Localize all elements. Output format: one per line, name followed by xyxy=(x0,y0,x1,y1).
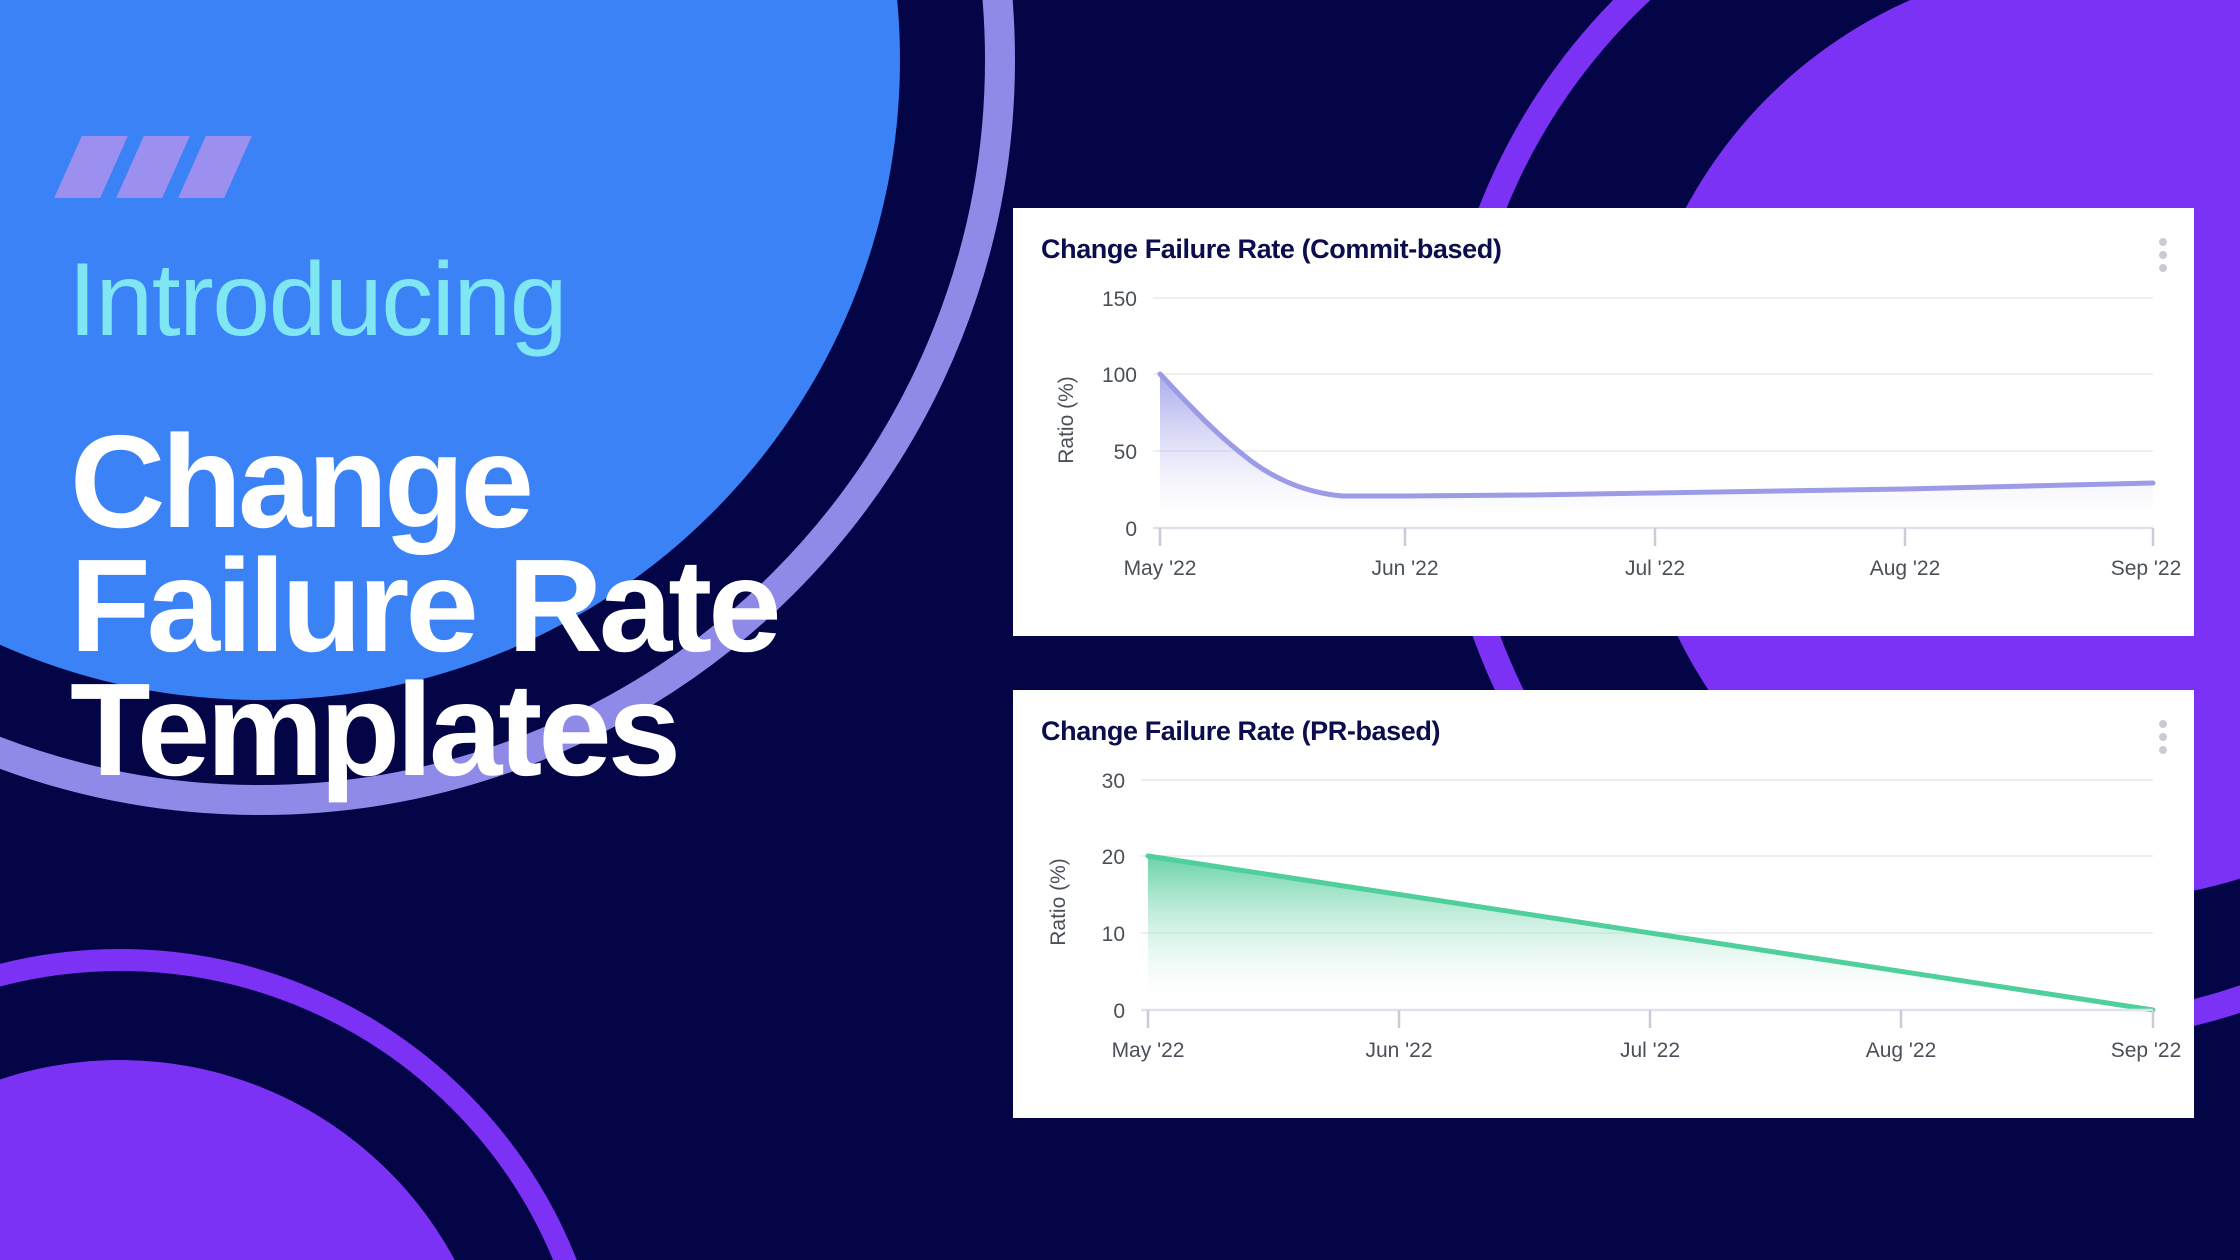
chart-title-commit: Change Failure Rate (Commit-based) xyxy=(1041,234,1501,265)
x-tick-label-3: Aug '22 xyxy=(1870,557,1941,580)
x-tick-label-3: Aug '22 xyxy=(1866,1039,1937,1062)
x-tick-label-0: May '22 xyxy=(1112,1039,1185,1062)
x-tick-label-0: May '22 xyxy=(1124,557,1197,580)
kebab-dot-3 xyxy=(2159,264,2167,272)
kebab-dot-3 xyxy=(2159,746,2167,754)
x-tick-label-2: Jul '22 xyxy=(1620,1039,1680,1062)
kebab-dot-2 xyxy=(2159,251,2167,259)
y-tick-label-0: 0 xyxy=(1113,1000,1125,1023)
y-tick-label-150: 150 xyxy=(1102,288,1137,311)
chart-title-pr: Change Failure Rate (PR-based) xyxy=(1041,716,1440,747)
kebab-dot-1 xyxy=(2159,238,2167,246)
y-axis-label: Ratio (%) xyxy=(1047,858,1070,946)
chart-plot-commit: 150 100 50 0 Ratio (%) May '22 Jun '22 J… xyxy=(1013,280,2194,620)
y-tick-label-50: 50 xyxy=(1114,441,1137,464)
x-tick-label-1: Jun '22 xyxy=(1365,1039,1432,1062)
x-tick-label-2: Jul '22 xyxy=(1625,557,1685,580)
y-tick-label-10: 10 xyxy=(1102,923,1125,946)
kebab-dot-1 xyxy=(2159,720,2167,728)
chart-card-commit: Change Failure Rate (Commit-based) xyxy=(1013,208,2194,636)
kebab-menu-icon[interactable] xyxy=(2154,238,2172,278)
y-axis-label: Ratio (%) xyxy=(1055,376,1078,464)
y-tick-label-100: 100 xyxy=(1102,364,1137,387)
x-tick-label-1: Jun '22 xyxy=(1371,557,1438,580)
kebab-dot-2 xyxy=(2159,733,2167,741)
chart-plot-pr: 30 20 10 0 Ratio (%) May '22 Jun '22 Jul… xyxy=(1013,762,2194,1102)
kebab-menu-icon[interactable] xyxy=(2154,720,2172,760)
line-series-commit xyxy=(1160,374,2153,496)
x-tick-label-4: Sep '22 xyxy=(2111,557,2182,580)
y-tick-label-30: 30 xyxy=(1102,770,1125,793)
logo-bar-2 xyxy=(116,136,190,198)
logo-bar-3 xyxy=(178,136,252,198)
x-tick-label-4: Sep '22 xyxy=(2111,1039,2182,1062)
y-tick-label-0: 0 xyxy=(1125,518,1137,541)
y-tick-label-20: 20 xyxy=(1102,846,1125,869)
three-slash-logo-icon xyxy=(68,136,298,206)
chart-card-pr: Change Failure Rate (PR-based) xyxy=(1013,690,2194,1118)
